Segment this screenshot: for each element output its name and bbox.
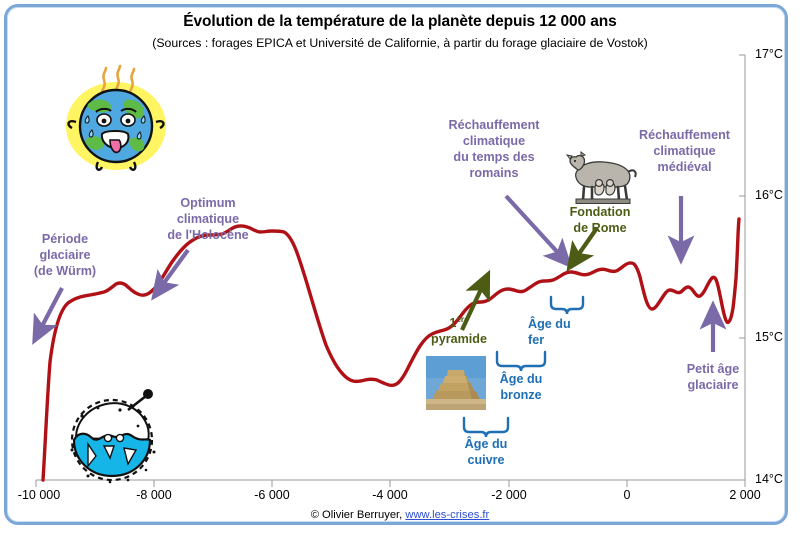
annotation-fer-line1: Âge du	[528, 317, 606, 333]
credit-link[interactable]: www.les-crises.fr	[405, 509, 489, 521]
annotation-romain-line4: romains	[424, 166, 564, 182]
annotation-bronze-line2: bronze	[473, 388, 569, 404]
x-tick-label-0: 0	[582, 488, 672, 502]
annotation-cuivre-line1: Âge du	[438, 437, 534, 453]
annotation-periode-glaciaire: Période glaciaire (de Würm)	[10, 232, 120, 280]
brace-age-bronze	[497, 352, 545, 371]
annotation-fondation-line2: de Rome	[548, 221, 652, 237]
annotation-age-bronze: Âge du bronze	[473, 372, 569, 404]
credit-prefix: © Olivier Berruyer,	[311, 509, 406, 521]
annotation-optimum-line2: climatique	[148, 212, 268, 228]
annotation-romain-line1: Réchauffement	[424, 118, 564, 134]
brace-age-fer	[551, 297, 583, 314]
hot-sweating-earth-icon	[58, 64, 174, 176]
annotation-medieval-line1: Réchauffement	[622, 128, 747, 144]
frozen-earth-icon	[58, 388, 170, 486]
annotation-age-cuivre: Âge du cuivre	[438, 437, 534, 469]
annotation-romain-line2: climatique	[424, 134, 564, 150]
annotation-romain-line3: du temps des	[424, 150, 564, 166]
annotation-fer-line2: fer	[528, 333, 606, 349]
annotation-fondation-rome: Fondation de Rome	[548, 205, 652, 237]
y-tick-label-15: 15°C	[755, 330, 783, 344]
annotation-medieval-line3: médiéval	[622, 160, 747, 176]
y-tick-label-14: 14°C	[755, 472, 783, 486]
x-tick-label-m8000: -8 000	[109, 488, 199, 502]
x-tick-label-m10000: -10 000	[0, 488, 84, 502]
chart-stage: Évolution de la température de la planèt…	[0, 0, 800, 537]
annotation-petit-age-glaciaire: Petit âge glaciaire	[659, 362, 767, 394]
annotation-medieval-line2: climatique	[622, 144, 747, 160]
annotation-pyramide-ordinal: ère	[456, 315, 468, 324]
annotation-optimum-line3: de l'Holocène	[148, 228, 268, 244]
y-tick-label-16: 16°C	[755, 188, 783, 202]
annotation-optimum-line1: Optimum	[148, 196, 268, 212]
annotation-premiere-pyramide: 1ère pyramide	[416, 315, 502, 348]
annotation-periode-glaciaire-line3: (de Würm)	[10, 264, 120, 280]
y-tick-label-17: 17°C	[755, 47, 783, 61]
annotation-pyramide-line2: pyramide	[416, 332, 502, 348]
annotation-periode-glaciaire-line1: Période	[10, 232, 120, 248]
annotation-age-fer: Âge du fer	[528, 317, 606, 349]
annotation-rechauffement-medieval: Réchauffement climatique médiéval	[622, 128, 747, 176]
x-tick-label-2000: 2 000	[700, 488, 790, 502]
annotation-petit-age-line1: Petit âge	[659, 362, 767, 378]
annotation-rechauffement-romain: Réchauffement climatique du temps des ro…	[424, 118, 564, 182]
annotation-optimum-holocene: Optimum climatique de l'Holocène	[148, 196, 268, 244]
annotation-cuivre-line2: cuivre	[438, 453, 534, 469]
brace-age-cuivre	[464, 418, 508, 437]
arrow-optimum-holocene	[161, 250, 188, 287]
capitoline-wolf-image	[562, 150, 640, 205]
x-tick-label-m6000: -6 000	[227, 488, 317, 502]
annotation-bronze-line1: Âge du	[473, 372, 569, 388]
annotation-fondation-line1: Fondation	[548, 205, 652, 221]
annotation-petit-age-line2: glaciaire	[659, 378, 767, 394]
annotation-periode-glaciaire-line2: glaciaire	[10, 248, 120, 264]
x-tick-label-m2000: -2 000	[464, 488, 554, 502]
credit-line: © Olivier Berruyer, www.les-crises.fr	[0, 509, 800, 521]
step-pyramid-photo	[426, 356, 486, 410]
annotation-pyramide-line1: 1ère	[416, 315, 502, 332]
x-tick-label-m4000: -4 000	[345, 488, 435, 502]
